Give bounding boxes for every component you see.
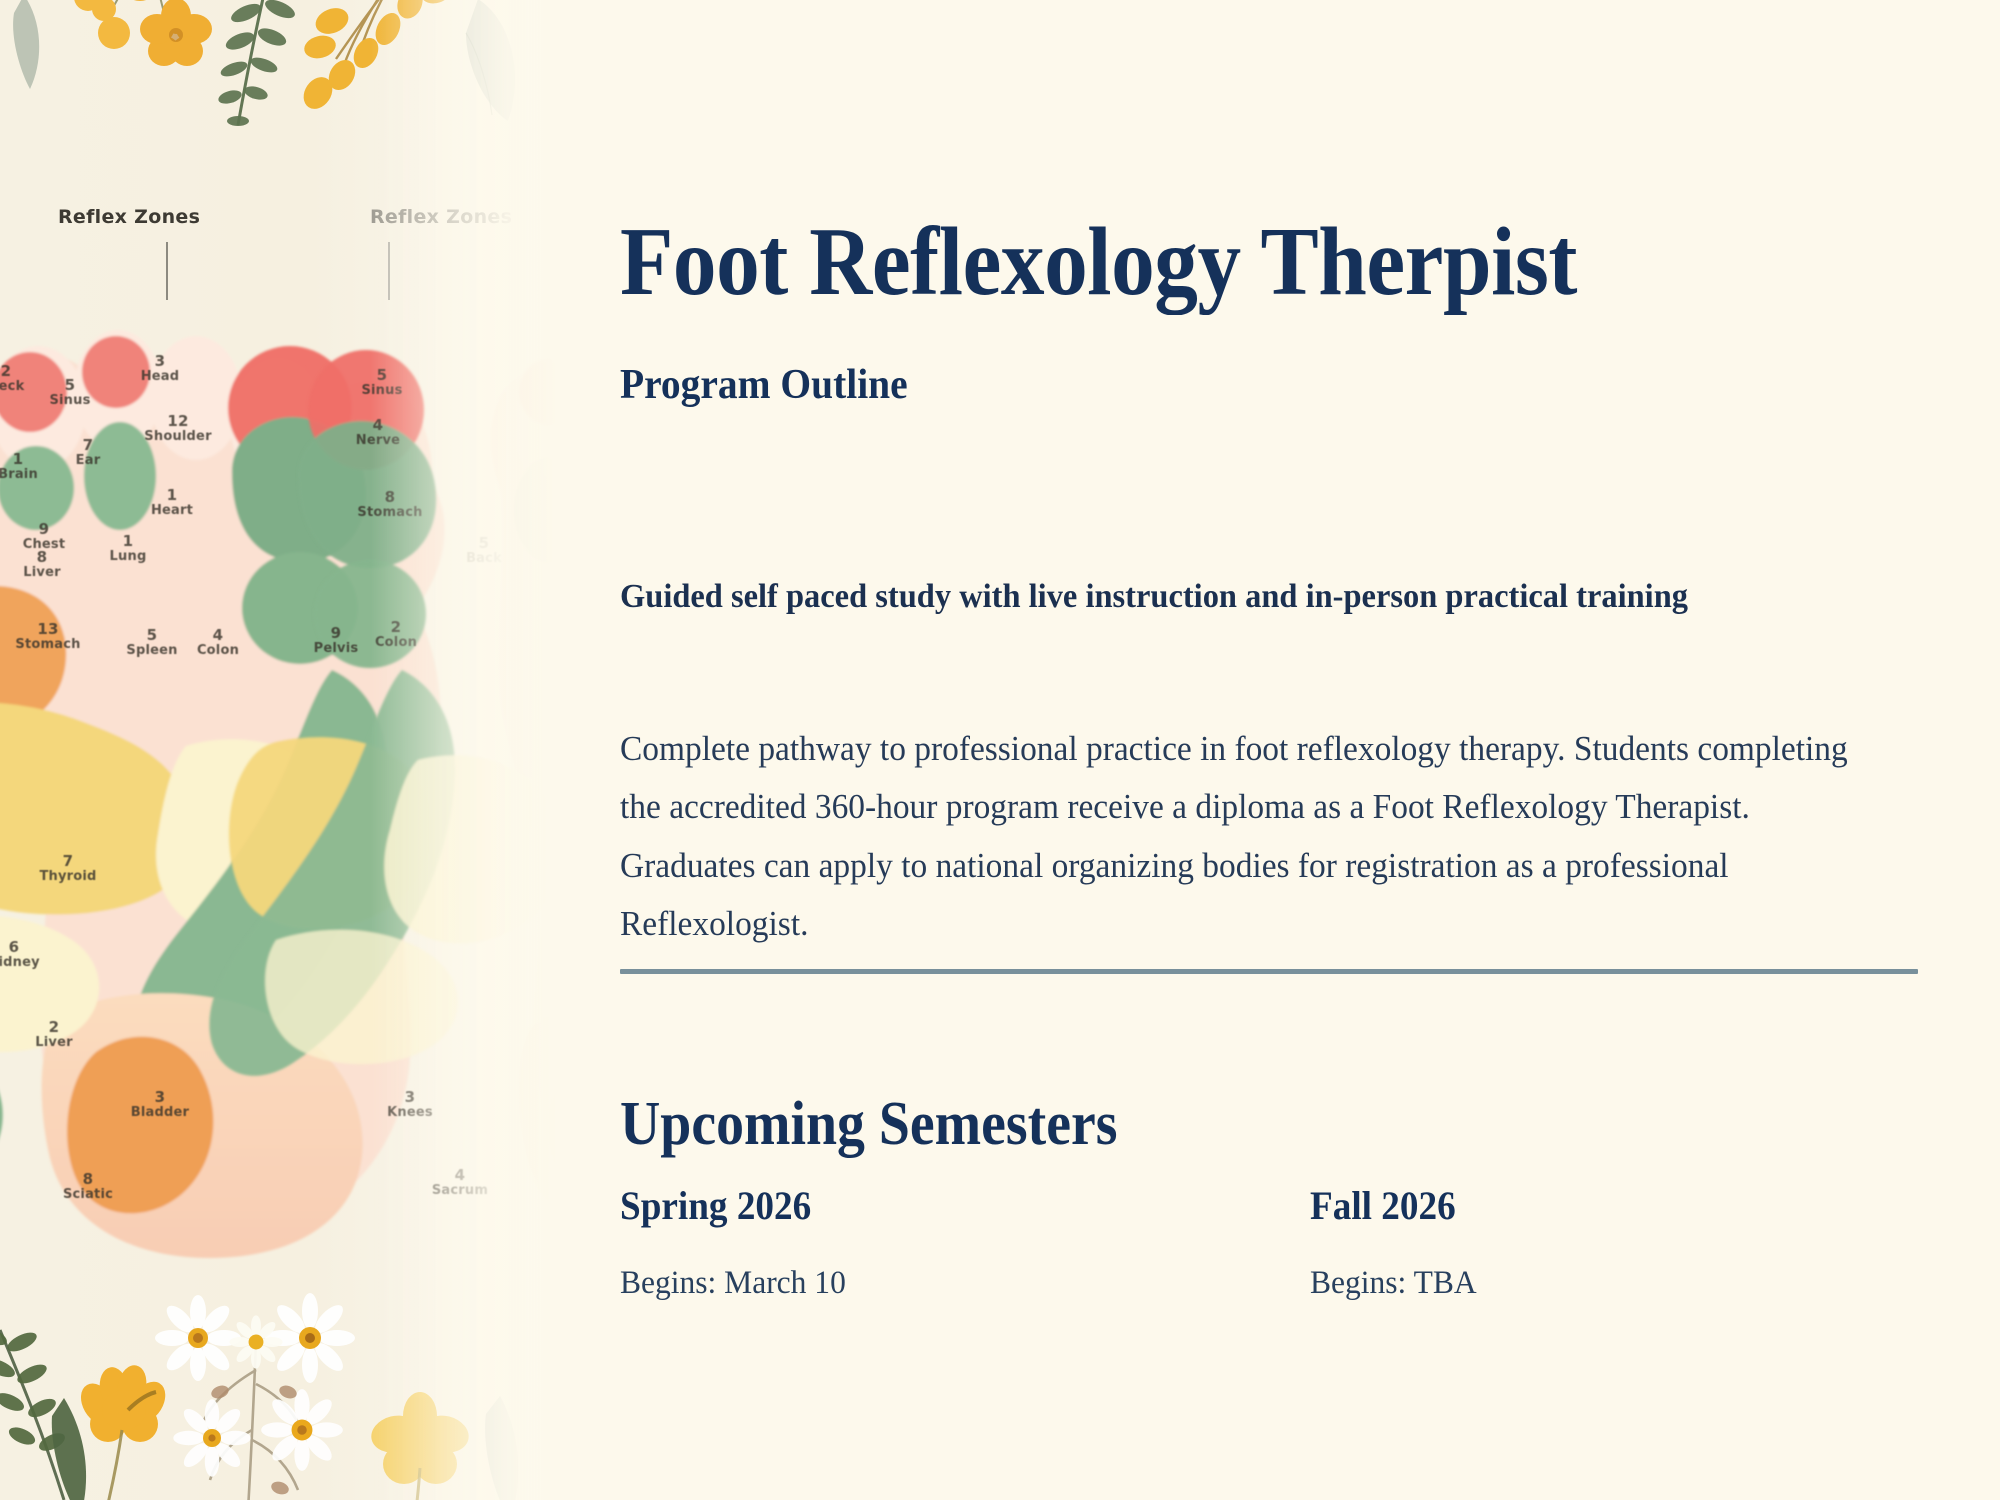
callout-label-reflex-zones-left: Reflex Zones xyxy=(58,206,200,228)
section-divider xyxy=(620,969,1918,974)
zone-mark: 2Liver xyxy=(11,1020,97,1049)
zone-mark: 7Ear xyxy=(45,438,131,467)
section-kicker: Program Outline xyxy=(620,361,908,409)
zone-mark: 1Heart xyxy=(129,488,215,517)
program-lead-text: Guided self paced study with live instru… xyxy=(620,572,1823,622)
zone-mark: 8Liver xyxy=(0,550,85,579)
illustration-artwork: 5Sinus 3Head 1Brain 12Shoulder 1Heart 7E… xyxy=(0,0,560,1500)
reflexology-illustration-panel: 5Sinus 3Head 1Brain 12Shoulder 1Heart 7E… xyxy=(0,0,560,1500)
callout-leader-right xyxy=(388,242,390,300)
zone-mark: 1Lung xyxy=(85,534,171,563)
zone-mark: 5Sinus xyxy=(339,368,425,397)
floral-decoration-top xyxy=(0,0,560,185)
zone-mark: 3Bladder xyxy=(117,1090,203,1119)
zone-mark: 6Kidney xyxy=(0,940,57,969)
zone-mark: 7Thyroid xyxy=(25,854,111,883)
semester-name: Fall 2026 xyxy=(1310,1182,1877,1229)
zone-mark: 4Colon xyxy=(175,628,261,657)
program-description: Complete pathway to professional practic… xyxy=(620,720,1871,954)
zone-mark: 3Knees xyxy=(367,1090,453,1119)
page-title: Foot Reflexology Therpist xyxy=(620,213,1808,310)
zone-mark: 2Colon xyxy=(353,620,439,649)
semester-start-date: Begins: TBA xyxy=(1310,1265,1893,1302)
zone-mark: 5Back xyxy=(441,536,527,565)
zone-mark: 4Nerve xyxy=(335,418,421,447)
callout-label-reflex-zones-right: Reflex Zones xyxy=(370,206,512,228)
zone-mark: 3Head xyxy=(117,354,203,383)
zone-mark: 12Shoulder xyxy=(135,414,221,443)
slide-canvas: 5Sinus 3Head 1Brain 12Shoulder 1Heart 7E… xyxy=(0,0,2000,1500)
upcoming-semesters-heading: Upcoming Semesters xyxy=(620,1089,1117,1160)
semester-card-spring: Spring 2026 Begins: March 10 xyxy=(620,1182,1310,1302)
callout-leader-left xyxy=(166,242,168,300)
semester-card-fall: Fall 2026 Begins: TBA xyxy=(1310,1182,1920,1302)
content-column: Foot Reflexology Therpist Program Outlin… xyxy=(620,0,1920,1500)
semester-start-date: Begins: March 10 xyxy=(620,1265,1279,1302)
zone-mark: 8Stomach xyxy=(347,490,433,519)
zone-mark: 13Stomach xyxy=(5,622,91,651)
zone-mark: 9Chest xyxy=(1,522,87,551)
semester-name: Spring 2026 xyxy=(620,1182,1262,1229)
zone-mark: 2Neck xyxy=(0,364,49,393)
zone-mark: 8Sciatic xyxy=(45,1172,131,1201)
semesters-list: Spring 2026 Begins: March 10 Fall 2026 B… xyxy=(620,1182,1920,1302)
floral-decoration-bottom xyxy=(0,1280,560,1500)
zone-mark: 4Sacrum xyxy=(417,1168,503,1197)
